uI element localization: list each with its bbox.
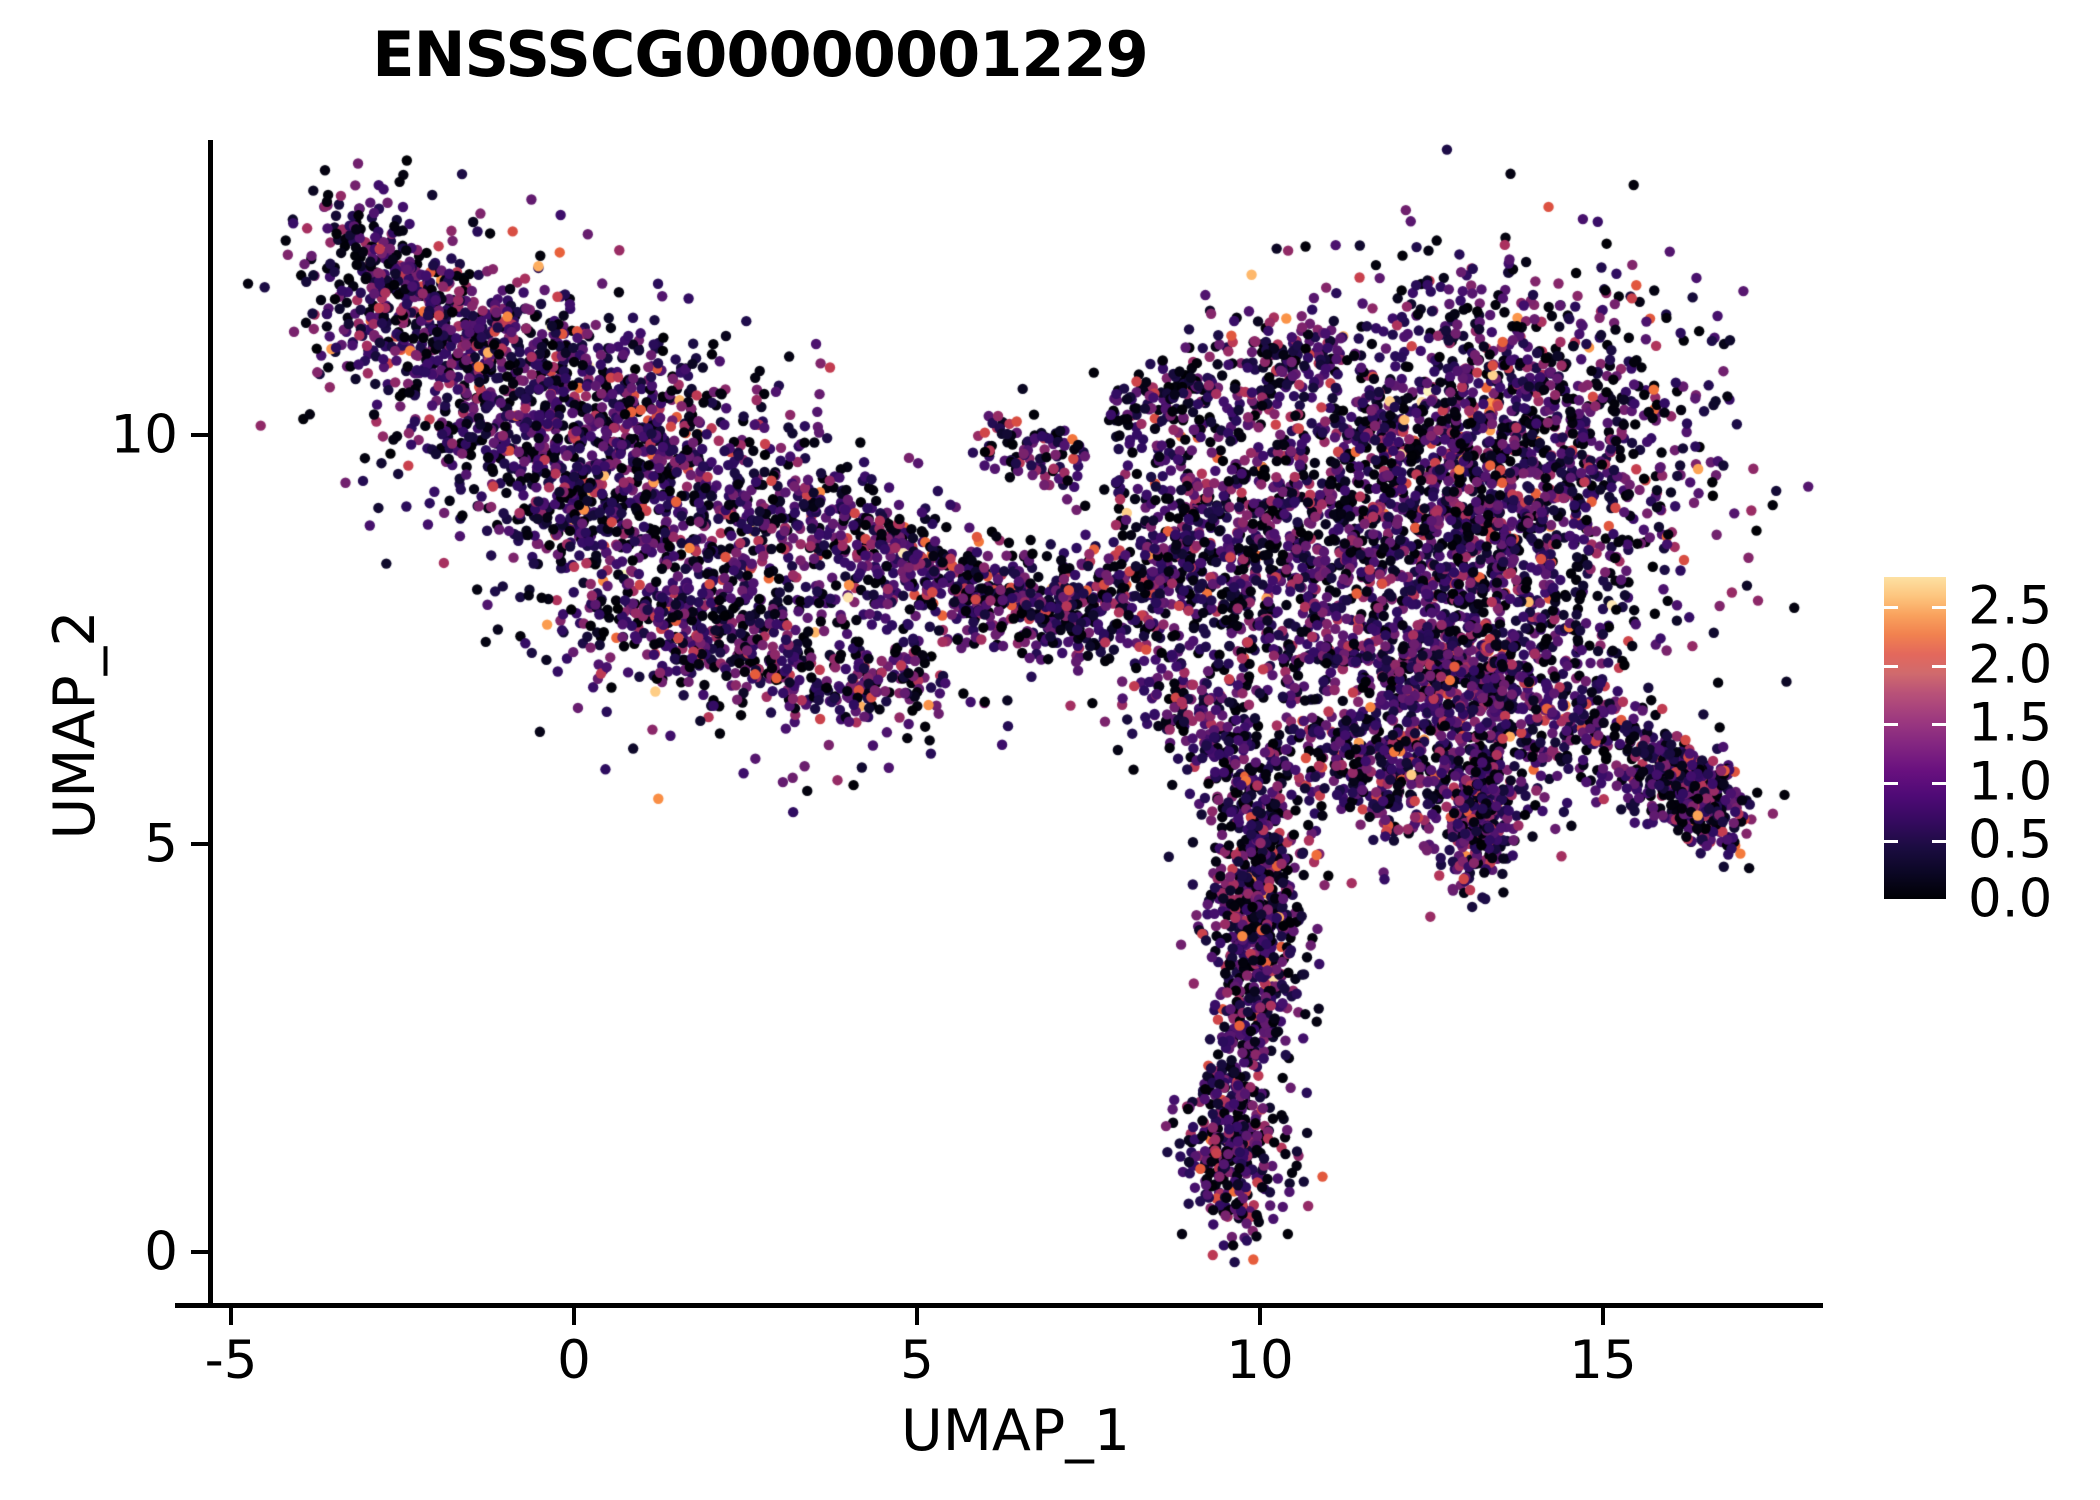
y-tick-label: 10: [111, 405, 178, 466]
colorbar: [1884, 577, 1946, 899]
y-tick-mark: [191, 842, 208, 846]
colorbar-tick-mark: [1932, 665, 1946, 668]
y-tick-label: 5: [144, 813, 178, 874]
x-tick-label: 10: [1226, 1330, 1293, 1391]
colorbar-tick-mark: [1884, 899, 1898, 902]
x-tick-label: 0: [557, 1330, 591, 1391]
page-title: ENSSSCG00000001229: [0, 18, 1520, 91]
scatter-plot-area[interactable]: [213, 140, 1823, 1303]
colorbar-tick-mark: [1884, 665, 1898, 668]
colorbar-tick-mark: [1932, 782, 1946, 785]
x-tick-mark: [915, 1308, 919, 1325]
umap-feature-plot: ENSSSCG00000001229 -5051015 0510 UMAP_1 …: [0, 0, 2100, 1500]
y-tick-mark: [191, 1250, 208, 1254]
x-axis-label: UMAP_1: [208, 1398, 1823, 1464]
y-axis-label: UMAP_2: [42, 141, 108, 1309]
colorbar-tick-mark: [1932, 899, 1946, 902]
colorbar-tick-mark: [1932, 606, 1946, 609]
y-tick-mark: [191, 433, 208, 437]
x-tick-mark: [229, 1308, 233, 1325]
x-tick-mark: [572, 1308, 576, 1325]
colorbar-tick-label: 0.0: [1968, 869, 2052, 930]
colorbar-tick-mark: [1884, 723, 1898, 726]
x-tick-mark: [1258, 1308, 1262, 1325]
y-axis-spine: [208, 140, 213, 1308]
colorbar-tick-label: 1.5: [1968, 693, 2052, 754]
x-tick-label: -5: [205, 1330, 258, 1391]
colorbar-tick-mark: [1884, 782, 1898, 785]
x-tick-label: 5: [900, 1330, 934, 1391]
colorbar-tick-mark: [1932, 840, 1946, 843]
colorbar-tick-label: 2.5: [1968, 576, 2052, 637]
colorbar-tick-mark: [1884, 606, 1898, 609]
colorbar-tick-label: 2.0: [1968, 634, 2052, 695]
colorbar-tick-label: 1.0: [1968, 751, 2052, 812]
x-axis-spine: [175, 1303, 1823, 1308]
x-tick-label: 15: [1569, 1330, 1636, 1391]
colorbar-gradient: [1884, 577, 1946, 899]
colorbar-tick-label: 0.5: [1968, 810, 2052, 871]
x-tick-mark: [1601, 1308, 1605, 1325]
colorbar-tick-mark: [1932, 723, 1946, 726]
colorbar-tick-mark: [1884, 840, 1898, 843]
y-tick-label: 0: [144, 1222, 178, 1283]
